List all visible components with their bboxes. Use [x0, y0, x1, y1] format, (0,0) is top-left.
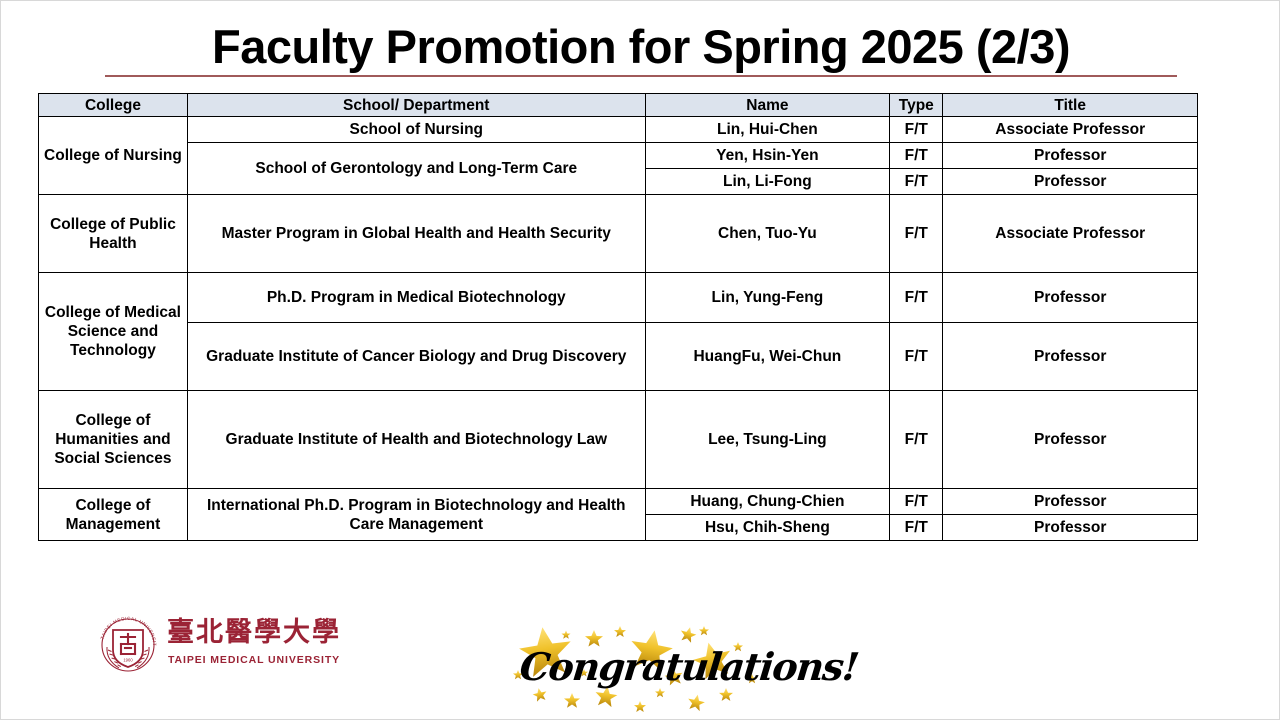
title-cell: Professor — [943, 273, 1198, 323]
congratulations-graphic: Congratulations! — [506, 623, 776, 719]
page-title: Faculty Promotion for Spring 2025 (2/3) — [105, 19, 1177, 77]
type-cell: F/T — [890, 391, 943, 489]
name-cell: Chen, Tuo-Yu — [645, 195, 889, 273]
table-row: Graduate Institute of Cancer Biology and… — [39, 323, 1198, 391]
department-cell: School of Gerontology and Long-Term Care — [187, 143, 645, 195]
department-cell: Graduate Institute of Health and Biotech… — [187, 391, 645, 489]
title-cell: Associate Professor — [943, 195, 1198, 273]
college-cell: College of Humanities and Social Science… — [39, 391, 188, 489]
name-cell: Lee, Tsung-Ling — [645, 391, 889, 489]
table-row: School of Gerontology and Long-Term Care… — [39, 143, 1198, 169]
type-cell: F/T — [890, 323, 943, 391]
type-cell: F/T — [890, 195, 943, 273]
tmu-logo-chinese-name: 臺北醫學大學 — [167, 616, 341, 650]
type-cell: F/T — [890, 489, 943, 515]
type-cell: F/T — [890, 515, 943, 541]
congratulations-text: Congratulations! — [518, 645, 771, 689]
table-header-row: College School/ Department Name Type Tit… — [39, 94, 1198, 117]
title-cell: Professor — [943, 515, 1198, 541]
department-cell: School of Nursing — [187, 117, 645, 143]
department-cell: Master Program in Global Health and Heal… — [187, 195, 645, 273]
column-header-type: Type — [890, 94, 943, 117]
college-cell: College of Management — [39, 489, 188, 541]
name-cell: Lin, Hui-Chen — [645, 117, 889, 143]
department-cell: Graduate Institute of Cancer Biology and… — [187, 323, 645, 391]
table-row: College of Humanities and Social Science… — [39, 391, 1198, 489]
tmu-crest-icon: TAIPEI MEDICAL UNIVERSITY 1960 — [97, 614, 159, 676]
faculty-promotion-table: College School/ Department Name Type Tit… — [38, 93, 1198, 541]
name-cell: Lin, Li-Fong — [645, 169, 889, 195]
type-cell: F/T — [890, 169, 943, 195]
name-cell: HuangFu, Wei-Chun — [645, 323, 889, 391]
column-header-college: College — [39, 94, 188, 117]
type-cell: F/T — [890, 273, 943, 323]
table-row: College of Public Health Master Program … — [39, 195, 1198, 273]
type-cell: F/T — [890, 117, 943, 143]
name-cell: Lin, Yung-Feng — [645, 273, 889, 323]
title-cell: Associate Professor — [943, 117, 1198, 143]
name-cell: Hsu, Chih-Sheng — [645, 515, 889, 541]
department-cell: Ph.D. Program in Medical Biotechnology — [187, 273, 645, 323]
title-underline-rule — [105, 75, 1177, 77]
svg-text:1960: 1960 — [123, 658, 133, 663]
title-cell: Professor — [943, 489, 1198, 515]
page-title-text: Faculty Promotion for Spring 2025 (2/3) — [105, 19, 1177, 75]
title-cell: Professor — [943, 143, 1198, 169]
name-cell: Yen, Hsin-Yen — [645, 143, 889, 169]
college-cell: College of Medical Science and Technolog… — [39, 273, 188, 391]
title-cell: Professor — [943, 391, 1198, 489]
column-header-title: Title — [943, 94, 1198, 117]
college-cell: College of Public Health — [39, 195, 188, 273]
table-row: College of Management International Ph.D… — [39, 489, 1198, 515]
department-cell: International Ph.D. Program in Biotechno… — [187, 489, 645, 541]
slide-canvas: Faculty Promotion for Spring 2025 (2/3) … — [0, 0, 1280, 720]
college-cell: College of Nursing — [39, 117, 188, 195]
tmu-logo-english-name: TAIPEI MEDICAL UNIVERSITY — [168, 654, 340, 666]
type-cell: F/T — [890, 143, 943, 169]
column-header-department: School/ Department — [187, 94, 645, 117]
title-cell: Professor — [943, 323, 1198, 391]
table-row: College of Nursing School of Nursing Lin… — [39, 117, 1198, 143]
column-header-name: Name — [645, 94, 889, 117]
tmu-logo: TAIPEI MEDICAL UNIVERSITY 1960 臺北醫學大學 TA — [97, 614, 307, 676]
table-row: College of Medical Science and Technolog… — [39, 273, 1198, 323]
name-cell: Huang, Chung-Chien — [645, 489, 889, 515]
title-cell: Professor — [943, 169, 1198, 195]
